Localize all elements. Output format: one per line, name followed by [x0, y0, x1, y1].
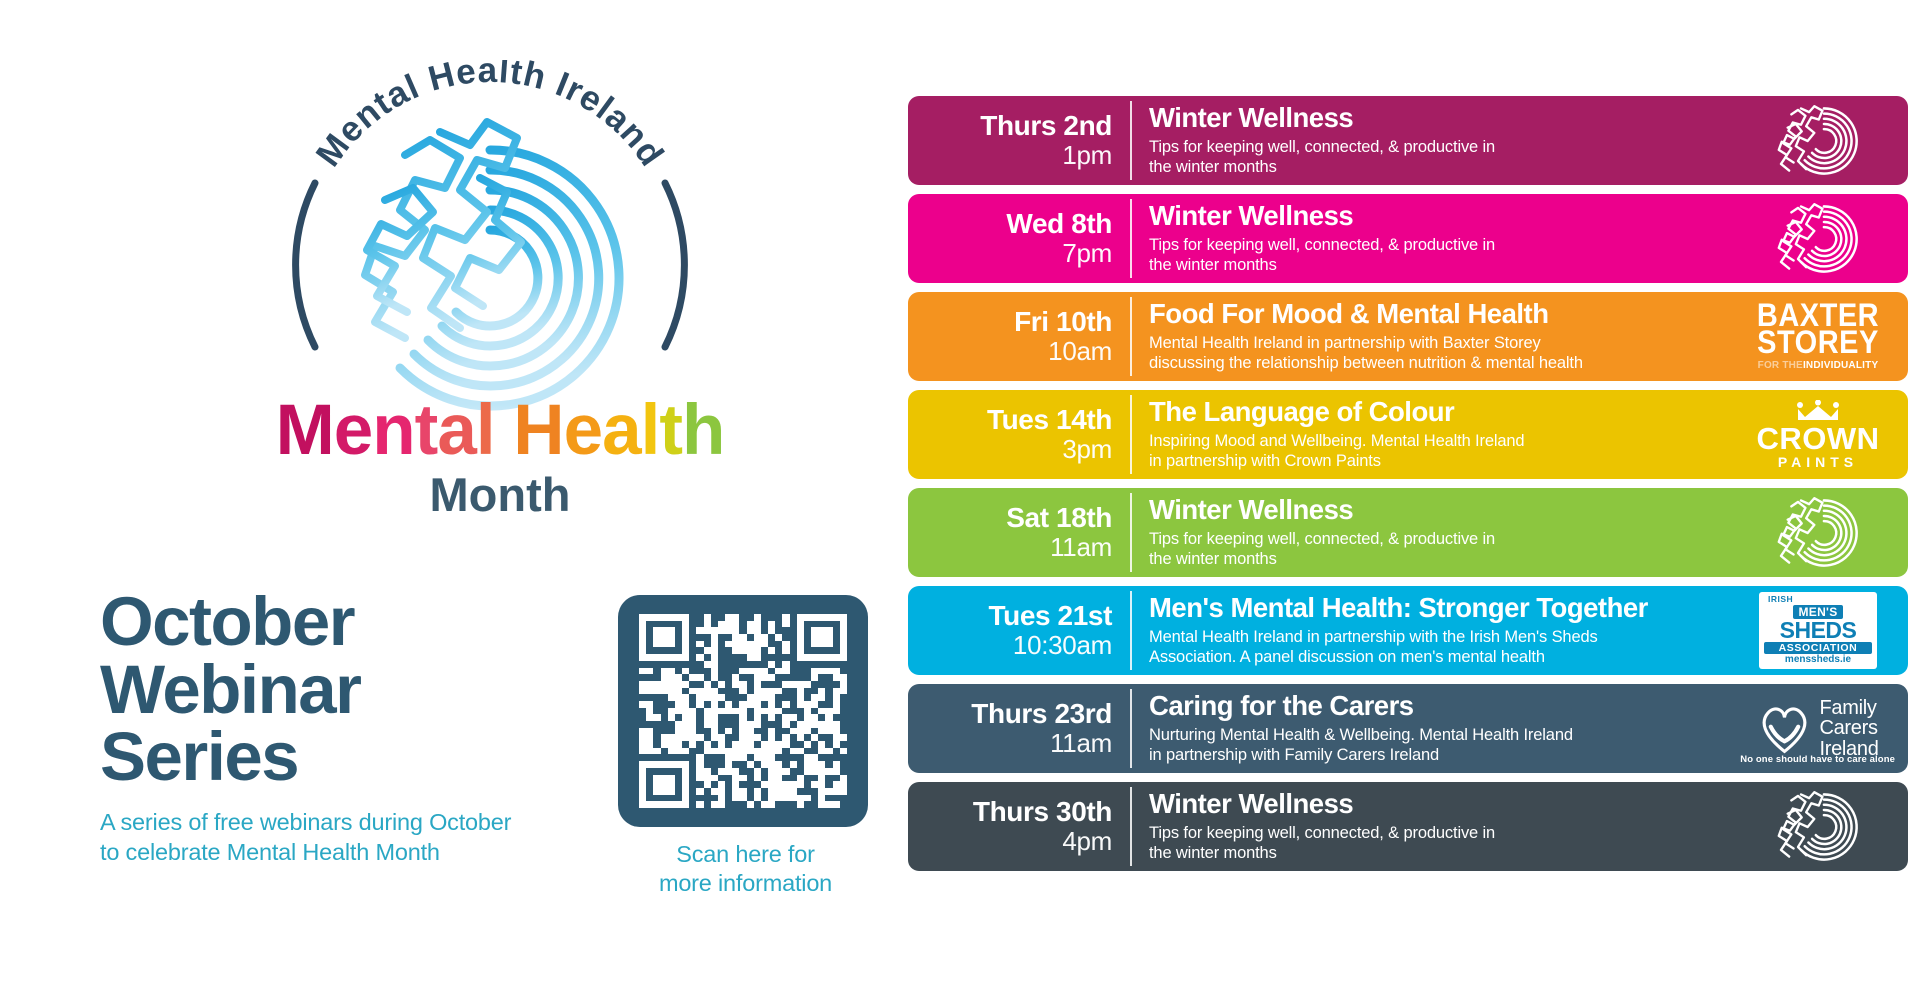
- wordmark-letter-3: t: [415, 395, 438, 466]
- webinar-row[interactable]: Tues 14th3pmThe Language of ColourInspir…: [908, 390, 1908, 479]
- webinar-detail-cell: Winter WellnessTips for keeping well, co…: [1132, 96, 1736, 185]
- webinar-description-line-1: Tips for keeping well, connected, & prod…: [1149, 137, 1728, 158]
- webinar-day: Tues 21st: [989, 601, 1113, 631]
- webinar-date-cell: Tues 14th3pm: [908, 390, 1130, 479]
- webinar-description-line-1: Tips for keeping well, connected, & prod…: [1149, 235, 1728, 256]
- heart-hands-icon: [1757, 701, 1812, 756]
- webinar-detail-cell: Winter WellnessTips for keeping well, co…: [1132, 194, 1736, 283]
- mens-sheds-irish: IRISH: [1764, 595, 1872, 604]
- webinar-description-line-2: Association. A panel discussion on men's…: [1149, 647, 1728, 668]
- logo-arc-text: Mental Health Ireland: [309, 60, 672, 174]
- qr-caption-line-1: Scan here for: [618, 840, 873, 869]
- wordmark-letter-6: [495, 395, 514, 466]
- webinar-description-line-2: the winter months: [1149, 549, 1728, 570]
- wordmark-letter-1: e: [334, 395, 373, 466]
- webinar-description: Tips for keeping well, connected, & prod…: [1149, 235, 1728, 276]
- wordmark-letter-4: a: [437, 395, 476, 466]
- baxter-storey-tagline: FOR THEINDIVIDUALITY: [1757, 361, 1879, 370]
- webinar-day: Tues 14th: [987, 405, 1112, 435]
- baxter-storey-logo: BAXTERSTOREYFOR THEINDIVIDUALITY: [1757, 303, 1879, 369]
- webinar-partner-logo: BAXTERSTOREYFOR THEINDIVIDUALITY: [1736, 292, 1908, 381]
- wordmark-letter-9: a: [602, 395, 641, 466]
- webinar-row[interactable]: Tues 21st10:30amMen's Mental Health: Str…: [908, 586, 1908, 675]
- webinar-description-line-1: Inspiring Mood and Wellbeing. Mental Hea…: [1149, 431, 1728, 452]
- webinar-time: 3pm: [1062, 435, 1112, 464]
- crown-paints-line-1: CROWN: [1756, 423, 1879, 454]
- wordmark-letter-0: M: [276, 395, 334, 466]
- webinar-time: 11am: [1050, 533, 1112, 562]
- webinar-description: Mental Health Ireland in partnership wit…: [1149, 627, 1728, 668]
- mhi-wave-mark-icon: [1772, 202, 1864, 276]
- webinar-description: Nurturing Mental Health & Wellbeing. Men…: [1149, 725, 1728, 766]
- webinar-detail-cell: Food For Mood & Mental HealthMental Heal…: [1132, 292, 1736, 381]
- wordmark-letter-10: l: [641, 395, 660, 466]
- baxter-storey-line-2: STOREY: [1757, 328, 1879, 357]
- webinar-date-cell: Sat 18th11am: [908, 488, 1130, 577]
- family-carers-ireland-logo: Family Carers Ireland: [1757, 698, 1878, 759]
- mens-sheds-url: menssheds.ie: [1764, 655, 1872, 665]
- irish-mens-sheds-logo: IRISHMEN'SSHEDSASSOCIATIONmenssheds.ie: [1759, 592, 1877, 669]
- series-subtitle-line-1: A series of free webinars during October: [100, 807, 580, 837]
- family-carers-wordmark: Family Carers Ireland: [1819, 698, 1878, 759]
- webinar-date-cell: Tues 21st10:30am: [908, 586, 1130, 675]
- webinar-description-line-1: Nurturing Mental Health & Wellbeing. Men…: [1149, 725, 1728, 746]
- webinar-description-line-2: the winter months: [1149, 255, 1728, 276]
- family-carers-line-1: Family: [1819, 698, 1878, 718]
- webinar-date-cell: Thurs 23rd11am: [908, 684, 1130, 773]
- wordmark-letter-8: e: [564, 395, 603, 466]
- webinar-time: 7pm: [1062, 239, 1112, 268]
- webinar-title: Winter Wellness: [1149, 495, 1728, 525]
- webinar-time: 11am: [1050, 729, 1112, 758]
- webinar-detail-cell: Caring for the CarersNurturing Mental He…: [1132, 684, 1736, 773]
- webinar-row[interactable]: Sat 18th11amWinter WellnessTips for keep…: [908, 488, 1908, 577]
- webinar-partner-logo: [1736, 96, 1908, 185]
- webinar-date-cell: Wed 8th7pm: [908, 194, 1130, 283]
- webinar-title: Winter Wellness: [1149, 201, 1728, 231]
- series-title-line-3: Series: [100, 723, 580, 791]
- webinar-title: Men's Mental Health: Stronger Together: [1149, 593, 1728, 623]
- webinar-title: Caring for the Carers: [1149, 691, 1728, 721]
- webinar-day: Thurs 30th: [973, 797, 1112, 827]
- webinar-day: Thurs 23rd: [971, 699, 1112, 729]
- webinar-description: Tips for keeping well, connected, & prod…: [1149, 823, 1728, 864]
- series-subtitle: A series of free webinars during October…: [100, 807, 580, 867]
- webinar-partner-logo: [1736, 488, 1908, 577]
- webinar-day: Fri 10th: [1014, 307, 1112, 337]
- series-title-line-1: October: [100, 588, 580, 656]
- webinar-title: Food For Mood & Mental Health: [1149, 299, 1728, 329]
- webinar-time: 1pm: [1062, 141, 1112, 170]
- mental-health-month-wordmark: Mental Health Month: [200, 395, 800, 525]
- webinar-partner-logo: [1736, 194, 1908, 283]
- webinar-description: Tips for keeping well, connected, & prod…: [1149, 529, 1728, 570]
- wordmark-letter-5: l: [476, 395, 495, 466]
- webinar-day: Sat 18th: [1006, 503, 1112, 533]
- webinar-date-cell: Thurs 30th4pm: [908, 782, 1130, 871]
- webinar-partner-logo: CROWNPAINTS: [1736, 390, 1908, 479]
- webinar-detail-cell: Winter WellnessTips for keeping well, co…: [1132, 488, 1736, 577]
- webinar-title: Winter Wellness: [1149, 103, 1728, 133]
- webinar-row[interactable]: Fri 10th10amFood For Mood & Mental Healt…: [908, 292, 1908, 381]
- qr-caption-line-2: more information: [618, 869, 873, 898]
- webinar-partner-logo: [1736, 782, 1908, 871]
- webinar-row[interactable]: Thurs 2nd1pmWinter WellnessTips for keep…: [908, 96, 1908, 185]
- crown-icon: [1795, 400, 1841, 422]
- series-title-line-2: Webinar: [100, 656, 580, 724]
- webinar-date-cell: Fri 10th10am: [908, 292, 1130, 381]
- wordmark-letter-12: h: [682, 395, 724, 466]
- webinar-time: 10am: [1048, 337, 1112, 366]
- webinar-description-line-1: Mental Health Ireland in partnership wit…: [1149, 333, 1728, 354]
- webinar-description-line-1: Mental Health Ireland in partnership wit…: [1149, 627, 1728, 648]
- webinar-description-line-2: the winter months: [1149, 843, 1728, 864]
- qr-code[interactable]: [618, 595, 868, 827]
- mens-sheds-association: ASSOCIATION: [1764, 642, 1872, 655]
- webinar-detail-cell: Men's Mental Health: Stronger TogetherMe…: [1132, 586, 1736, 675]
- wordmark-letter-11: t: [659, 395, 682, 466]
- webinar-time: 4pm: [1062, 827, 1112, 856]
- svg-text:Mental Health Ireland: Mental Health Ireland: [309, 60, 672, 174]
- family-carers-line-2: Carers: [1819, 718, 1878, 738]
- left-panel: Mental Health Ireland: [0, 0, 900, 1005]
- webinar-title: Winter Wellness: [1149, 789, 1728, 819]
- webinar-row[interactable]: Thurs 23rd11amCaring for the CarersNurtu…: [908, 684, 1908, 773]
- crown-paints-logo: CROWNPAINTS: [1756, 400, 1879, 469]
- webinar-description-line-2: the winter months: [1149, 157, 1728, 178]
- poster-canvas: Mental Health Ireland: [0, 0, 1920, 1005]
- webinar-description-line-1: Tips for keeping well, connected, & prod…: [1149, 823, 1728, 844]
- webinar-detail-cell: Winter WellnessTips for keeping well, co…: [1132, 782, 1736, 871]
- series-subtitle-line-2: to celebrate Mental Health Month: [100, 837, 580, 867]
- webinar-description: Tips for keeping well, connected, & prod…: [1149, 137, 1728, 178]
- qr-block: Scan here for more information: [618, 595, 873, 899]
- mhi-wave-mark-icon: [1772, 790, 1864, 864]
- webinar-day: Thurs 2nd: [980, 111, 1112, 141]
- webinar-date-cell: Thurs 2nd1pm: [908, 96, 1130, 185]
- mens-sheds-sheds: SHEDS: [1764, 619, 1872, 642]
- mhi-wave-mark-icon: [1772, 104, 1864, 178]
- webinar-time: 10:30am: [1013, 631, 1112, 660]
- series-heading-block: October Webinar Series A series of free …: [100, 588, 580, 867]
- family-carers-tagline: No one should have to care alone: [1740, 754, 1895, 765]
- webinar-description-line-2: discussing the relationship between nutr…: [1149, 353, 1728, 374]
- webinar-description-line-1: Tips for keeping well, connected, & prod…: [1149, 529, 1728, 550]
- crown-paints-line-2: PAINTS: [1756, 455, 1879, 469]
- webinar-description: Inspiring Mood and Wellbeing. Mental Hea…: [1149, 431, 1728, 472]
- webinar-day: Wed 8th: [1006, 209, 1112, 239]
- wordmark-mental-health: Mental Health: [200, 395, 800, 466]
- webinar-description-line-2: in partnership with Crown Paints: [1149, 451, 1728, 472]
- qr-code-matrix: [639, 614, 847, 808]
- wordmark-month: Month: [200, 466, 800, 525]
- webinar-title: The Language of Colour: [1149, 397, 1728, 427]
- webinar-row[interactable]: Wed 8th7pmWinter WellnessTips for keepin…: [908, 194, 1908, 283]
- wordmark-letter-7: H: [513, 395, 563, 466]
- wordmark-letter-2: n: [372, 395, 414, 466]
- series-title: October Webinar Series: [100, 588, 580, 791]
- webinar-description-line-2: in partnership with Family Carers Irelan…: [1149, 745, 1728, 766]
- webinar-row[interactable]: Thurs 30th4pmWinter WellnessTips for kee…: [908, 782, 1908, 871]
- mhi-wave-mark-icon: [1772, 496, 1864, 570]
- webinar-detail-cell: The Language of ColourInspiring Mood and…: [1132, 390, 1736, 479]
- qr-caption: Scan here for more information: [618, 840, 873, 899]
- webinar-partner-logo: IRISHMEN'SSHEDSASSOCIATIONmenssheds.ie: [1736, 586, 1908, 675]
- webinar-schedule-list: Thurs 2nd1pmWinter WellnessTips for keep…: [908, 96, 1908, 871]
- webinar-description: Mental Health Ireland in partnership wit…: [1149, 333, 1728, 374]
